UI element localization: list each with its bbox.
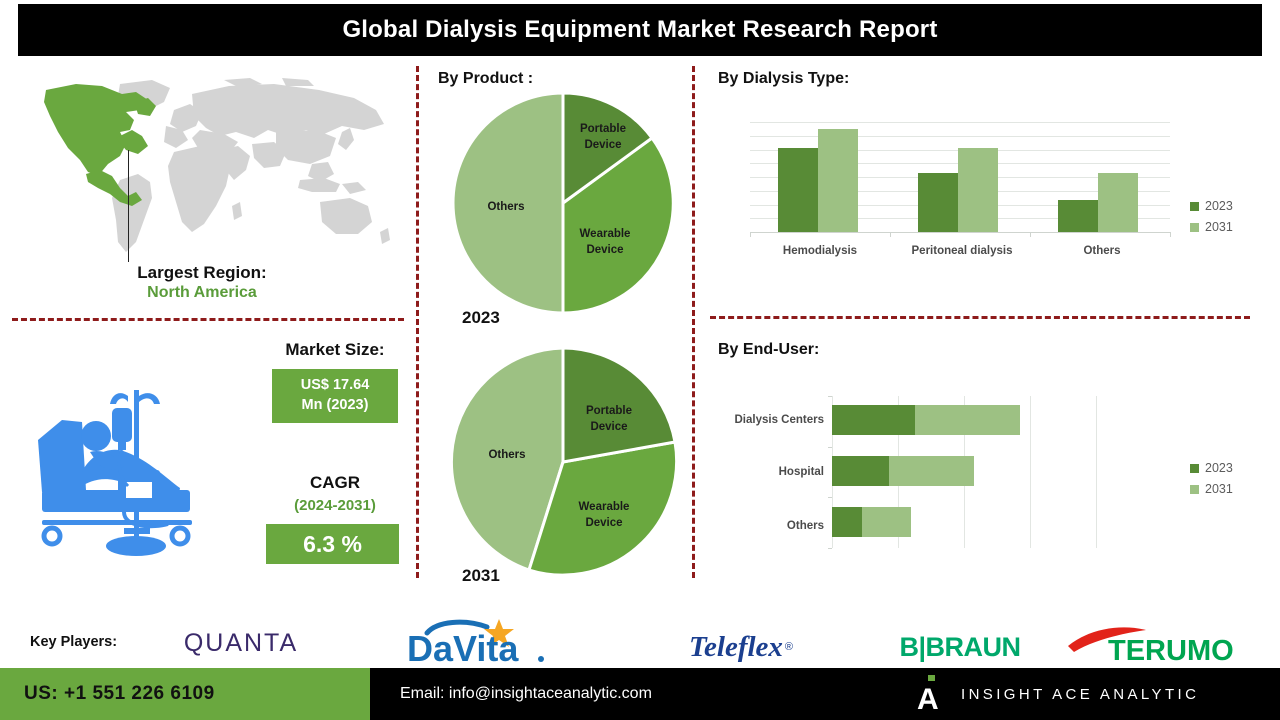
market-size-value-line1: US$ 17.64: [301, 376, 370, 396]
pie-2031-label-wearable: Wearable Device: [562, 500, 646, 531]
gridline: [1096, 396, 1097, 548]
legend-label-2031: 2031: [1205, 220, 1233, 234]
divider-horizontal-right: [710, 316, 1250, 319]
axis-tick: [828, 396, 832, 397]
category-label-others-type: Others: [982, 245, 1222, 257]
pie-slice-label: Wearable Device: [579, 501, 630, 529]
pie-slice-label: Others: [487, 201, 524, 213]
legend-swatch-2023: [1190, 464, 1199, 473]
map-leader-line: [128, 150, 129, 262]
category-label-hospital: Hospital: [680, 466, 824, 478]
davita-mark: DaVita: [403, 619, 553, 665]
registered-trademark-icon: ®: [785, 641, 793, 653]
dialysis-patient-icon: [28, 360, 248, 575]
bar-peritoneal-2031: [958, 148, 998, 232]
legend-dialysis-type: 2023 2031: [1190, 199, 1233, 241]
terumo-mark: TERUMO: [1060, 622, 1260, 666]
quanta-logo: QUANTA: [166, 626, 316, 660]
pie-2031-label-others: Others: [475, 448, 539, 464]
davita-logo: DaVita: [398, 618, 558, 666]
footer-contact-bar: Email: info@insightaceanalytic.com A INS…: [370, 668, 1280, 720]
svg-text:DaVita: DaVita: [407, 628, 519, 665]
stacked-bar-dialysis-centers: [832, 405, 1020, 435]
segment-2031: [915, 405, 1020, 435]
divider-horizontal-left: [12, 318, 404, 321]
gridline: [750, 136, 1170, 137]
pie-2031-year: 2031: [462, 566, 500, 586]
teleflex-logo: Teleflex ®: [646, 630, 836, 664]
pie-slice-label: Wearable Device: [580, 228, 631, 256]
by-product-title: By Product :: [438, 70, 533, 88]
stacked-bar-hospital: [832, 456, 974, 486]
terumo-logo: TERUMO: [1060, 622, 1260, 666]
legend-swatch-2023: [1190, 202, 1199, 211]
x-axis-line: [750, 232, 1170, 233]
axis-tick: [890, 232, 891, 237]
legend-swatch-2031: [1190, 223, 1199, 232]
teleflex-logo-text: Teleflex: [689, 631, 783, 664]
pie-2023-label-wearable: Wearable Device: [563, 227, 647, 258]
segment-2031: [889, 456, 974, 486]
gridline: [750, 122, 1170, 123]
largest-region-block: Largest Region: North America: [0, 262, 404, 304]
axis-tick: [1030, 232, 1031, 237]
legend-item-2023: 2023: [1190, 199, 1233, 213]
pie-slice-label: Portable Device: [580, 123, 626, 151]
axis-tick: [828, 548, 832, 549]
legend-item-2031: 2031: [1190, 482, 1233, 496]
axis-tick: [828, 447, 832, 448]
bar-others-2023: [1058, 200, 1098, 232]
pie-2023-label-others: Others: [474, 200, 538, 216]
legend-end-user: 2023 2031: [1190, 461, 1233, 503]
legend-label-2023: 2023: [1205, 461, 1233, 475]
market-size-value-line2: Mn (2023): [302, 396, 369, 416]
largest-region-value: North America: [0, 283, 404, 304]
pie-slice-label: Others: [488, 449, 525, 461]
segment-2023: [832, 456, 889, 486]
bar-peritoneal-2023: [918, 173, 958, 232]
gridline: [1030, 396, 1031, 548]
by-dialysis-type-title: By Dialysis Type:: [718, 70, 849, 88]
bar-hemodialysis-2031: [818, 129, 858, 232]
svg-text:TERUMO: TERUMO: [1108, 635, 1234, 666]
segment-2031: [862, 507, 911, 537]
bbraun-logo-text: B|BRAUN: [899, 632, 1020, 663]
by-end-user-title: By End-User:: [718, 341, 819, 359]
page-title: Global Dialysis Equipment Market Researc…: [342, 16, 937, 44]
axis-tick: [750, 232, 751, 237]
key-players-label: Key Players:: [30, 634, 117, 650]
brand-name: INSIGHT ACE ANALYTIC: [961, 686, 1199, 703]
pie-slice-label: Portable Device: [586, 405, 632, 433]
cagr-title: CAGR: [250, 473, 420, 493]
brand-block: A INSIGHT ACE ANALYTIC: [915, 668, 1199, 720]
legend-label-2023: 2023: [1205, 199, 1233, 213]
end-user-stacked-bar-chart: [832, 396, 1096, 548]
quanta-logo-text: QUANTA: [184, 629, 298, 658]
cagr-badge: 6.3 %: [266, 524, 399, 564]
bar-hemodialysis-2023: [778, 148, 818, 232]
bar-others-2031: [1098, 173, 1138, 232]
segment-2023: [832, 405, 915, 435]
market-size-badge: US$ 17.64 Mn (2023): [272, 369, 398, 423]
dialysis-type-column-chart: [750, 122, 1170, 232]
legend-swatch-2031: [1190, 485, 1199, 494]
axis-tick: [1170, 232, 1171, 237]
axis-tick: [828, 497, 832, 498]
stacked-bar-others-end-user: [832, 507, 911, 537]
legend-label-2031: 2031: [1205, 482, 1233, 496]
insight-ace-logo-icon: A: [915, 675, 945, 713]
divider-vertical-right: [692, 66, 695, 578]
cagr-value: 6.3 %: [303, 531, 362, 558]
segment-2023: [832, 507, 862, 537]
bbraun-logo: B|BRAUN: [880, 630, 1040, 664]
infographic-page: Global Dialysis Equipment Market Researc…: [0, 0, 1280, 720]
legend-item-2031: 2031: [1190, 220, 1233, 234]
pie-2023-label-portable: Portable Device: [563, 122, 643, 153]
footer-phone: US: +1 551 226 6109: [0, 683, 215, 705]
pie-2031-label-portable: Portable Device: [568, 404, 650, 435]
cagr-period: (2024-2031): [250, 497, 420, 514]
legend-item-2023: 2023: [1190, 461, 1233, 475]
header-banner: Global Dialysis Equipment Market Researc…: [18, 4, 1262, 56]
largest-region-label: Largest Region:: [0, 262, 404, 283]
svg-text:A: A: [917, 683, 939, 713]
footer-email: Email: info@insightaceanalytic.com: [370, 685, 652, 703]
market-size-title: Market Size:: [250, 340, 420, 360]
category-label-dialysis-centers: Dialysis Centers: [680, 414, 824, 426]
pie-2023-year: 2023: [462, 308, 500, 328]
footer-phone-bar: US: +1 551 226 6109: [0, 668, 370, 720]
category-label-others-end-user: Others: [680, 520, 824, 532]
world-map: [24, 72, 404, 267]
